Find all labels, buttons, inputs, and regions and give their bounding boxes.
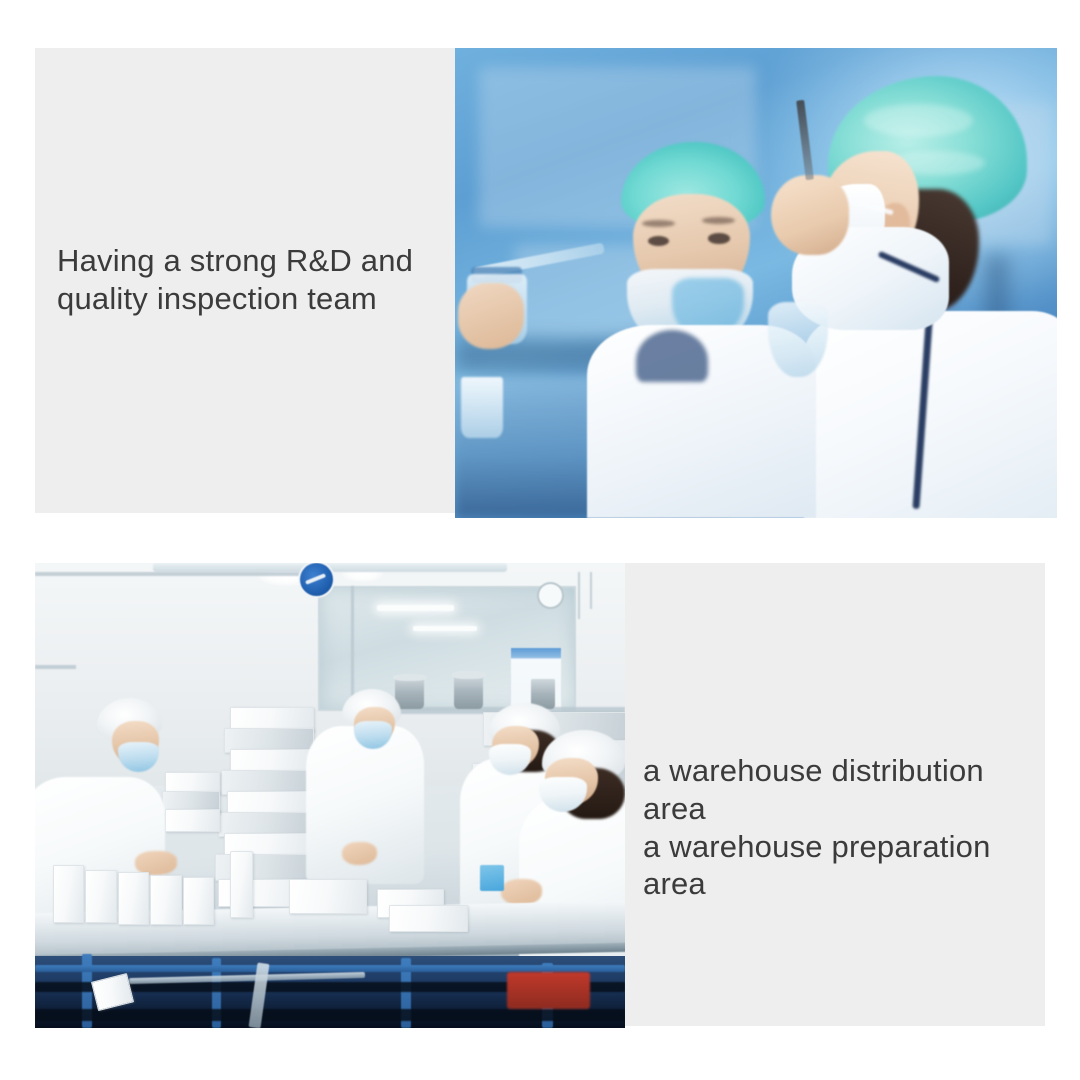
hanging-wire-2: [590, 572, 592, 609]
stainless-pot-1-lid: [393, 674, 427, 681]
table-box-8: [389, 905, 468, 933]
table-box-2: [85, 870, 117, 923]
table-box-6: [289, 879, 368, 914]
wall-seam-left: [35, 665, 76, 669]
lab-small-glassware: [461, 377, 503, 438]
lab-left-hand: [458, 283, 524, 349]
lab-worker-left-eye-right: [708, 233, 730, 243]
table-box-4: [150, 875, 182, 926]
stainless-pot-2-lid: [452, 671, 486, 678]
worker-right-hand: [501, 879, 542, 905]
warehouse-caption: a warehouse distribution area a warehous…: [643, 752, 1043, 903]
window-strip-light-1: [377, 605, 454, 612]
wall-seam-top: [35, 572, 306, 575]
box-stack-left-3: [165, 809, 220, 832]
lab-worker-left-collar: [636, 330, 708, 382]
window-strip-light-2: [413, 626, 478, 632]
sign-glyph: [306, 574, 327, 585]
under-table-shadow-bar-2: [35, 1009, 625, 1020]
warehouse-packing-photo: [35, 563, 625, 1028]
worker-center-hand: [342, 842, 377, 865]
table-bottle: [230, 851, 253, 918]
lab-worker-right-hairnet-fold: [864, 104, 972, 137]
window-mullion: [351, 586, 355, 707]
blue-rack-rail: [35, 965, 625, 972]
rnd-caption: Having a strong R&D and quality inspecti…: [57, 242, 457, 318]
rnd-lab-photo: [455, 48, 1057, 518]
stainless-pot-2: [454, 675, 484, 710]
lab-raised-hand: [771, 175, 849, 255]
table-box-5: [183, 877, 215, 926]
blue-card-item: [480, 865, 504, 891]
lab-worker-left-brow-left: [642, 220, 675, 227]
red-bin: [507, 972, 590, 1009]
worker-left-hand: [135, 851, 176, 874]
table-box-1: [53, 865, 85, 923]
blue-circle-sign: [298, 563, 335, 598]
wall-clock: [537, 582, 565, 609]
hanging-wire-1: [578, 572, 580, 619]
table-box-3: [118, 872, 150, 925]
